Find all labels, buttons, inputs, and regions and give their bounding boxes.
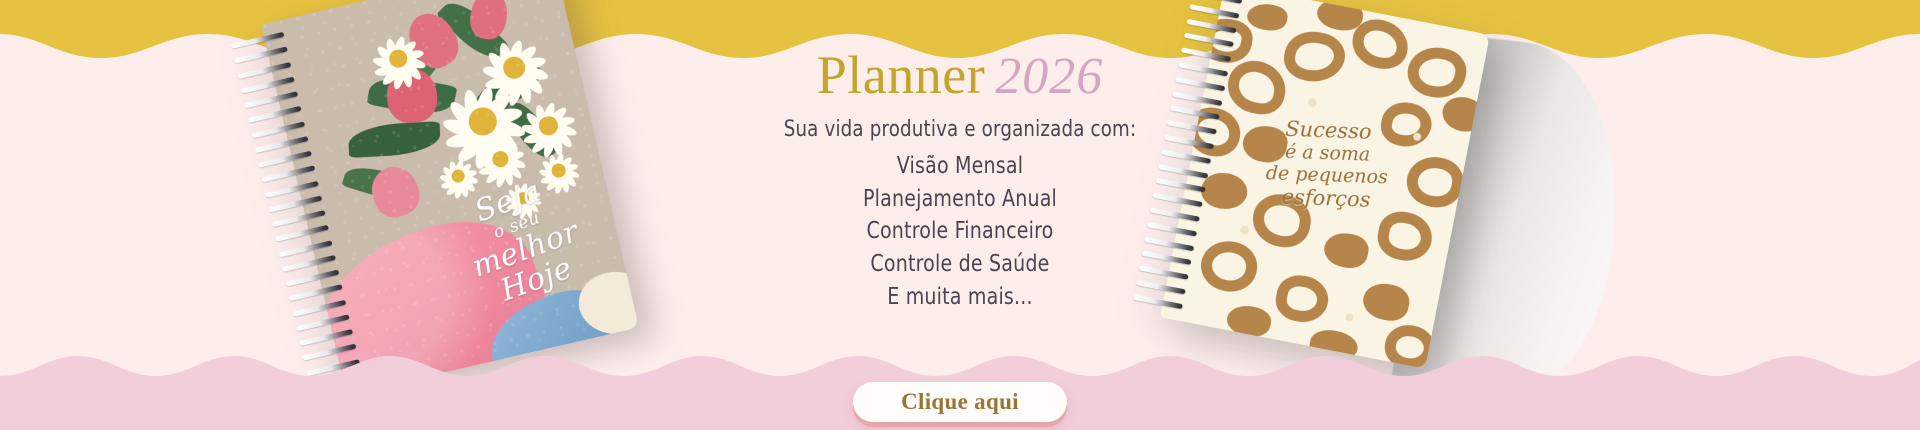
daisy-petal: [484, 126, 506, 167]
daisy-petal: [523, 191, 541, 201]
daisy-petal: [514, 55, 547, 73]
cream-accent: [578, 271, 639, 334]
daisy-petal: [459, 179, 470, 198]
daisy-petal: [478, 163, 502, 176]
leaf-shape: [366, 71, 457, 121]
daisy-petal: [502, 156, 526, 170]
page-title: Planner2026: [660, 48, 1260, 103]
daisy-petal: [550, 122, 578, 139]
daisy-petal: [506, 74, 526, 107]
leaf-shape: [466, 58, 549, 122]
leaf-shape: [394, 18, 460, 92]
daisy-petal: [400, 58, 424, 83]
daisy-petal: [372, 55, 399, 71]
daisy-flower: [427, 66, 537, 176]
daisy-petal: [375, 44, 399, 69]
list-item: Planejamento Anual: [684, 183, 1236, 216]
daisy-petal: [553, 175, 565, 195]
daisy-petal: [398, 48, 425, 62]
daisy-petal: [440, 180, 459, 191]
daisy-petal: [518, 183, 529, 201]
daisy-petal: [541, 102, 558, 130]
daisy-petal: [548, 154, 559, 174]
daisy-petal: [559, 163, 579, 174]
daisy-petal: [514, 184, 524, 202]
daisy-petal: [394, 39, 419, 63]
daisy-petal: [486, 115, 527, 139]
tulip-flower: [400, 5, 467, 76]
daisy-petal: [507, 188, 523, 204]
leopard-spot: [1321, 230, 1371, 272]
blue-knit-accent: [478, 275, 629, 395]
daisy-petal: [502, 162, 515, 186]
daisy-petal: [560, 170, 578, 189]
subtitle: Sua vida produtiva e organizada com:: [684, 117, 1236, 142]
clique-aqui-button[interactable]: Clique aqui: [853, 382, 1067, 422]
floral-planner-quote: Seja o seu melhor Hoje: [418, 156, 627, 326]
daisy-petal: [453, 159, 465, 179]
daisy-petal: [445, 180, 463, 197]
daisy-petal: [455, 161, 473, 178]
daisy-petal: [540, 174, 560, 185]
daisy-petal: [374, 63, 401, 77]
quote-line-3: melhor: [436, 204, 616, 296]
daisy-petal: [560, 167, 580, 179]
daisy-petal: [482, 106, 523, 128]
daisy-petal: [534, 104, 549, 131]
daisy-petal: [511, 202, 527, 218]
tulip-flower: [467, 0, 510, 42]
daisy-petal: [447, 99, 483, 137]
daisy-petal: [485, 50, 514, 80]
tulip-flower: [365, 160, 426, 223]
daisy-flower: [499, 174, 547, 222]
daisy-petal: [502, 158, 523, 180]
daisy-flower: [511, 88, 585, 162]
daisy-petal: [550, 125, 575, 150]
banner-copy: Planner2026 Sua vida produtiva e organiz…: [660, 0, 1260, 430]
daisy-petal: [472, 129, 496, 170]
daisy-petal: [400, 62, 414, 89]
daisy-petal: [380, 64, 405, 88]
daisy-petal: [505, 39, 525, 72]
daisy-petal: [516, 72, 534, 105]
list-item: Controle Financeiro: [684, 215, 1236, 248]
list-item: E muita mais...: [684, 281, 1236, 314]
daisy-petal: [439, 174, 459, 186]
headline-year: 2026: [995, 48, 1103, 105]
daisy-petal: [497, 42, 515, 75]
daisy-petal: [509, 43, 539, 72]
daisy-petal: [541, 131, 558, 159]
daisy-petal: [541, 159, 559, 178]
leaf-shape: [436, 0, 510, 67]
leopard-spot: [1280, 27, 1348, 88]
list-item: Visão Mensal: [684, 150, 1236, 183]
daisy-petal: [516, 67, 545, 97]
daisy-petal: [485, 120, 521, 158]
daisy-petal: [524, 196, 542, 207]
headline-word: Planner: [817, 45, 985, 105]
daisy-petal: [549, 129, 564, 156]
daisy-petal: [518, 202, 529, 220]
leopard-spot: [1404, 42, 1470, 102]
daisy-petal: [495, 164, 509, 188]
daisy-flower: [470, 23, 559, 112]
daisy-petal: [459, 175, 476, 193]
leopard-dot: [1307, 97, 1318, 108]
daisy-petal: [553, 153, 565, 173]
daisy-petal: [453, 180, 465, 200]
daisy-petal: [479, 146, 500, 168]
daisy-petal: [507, 201, 525, 211]
daisy-petal: [484, 73, 517, 91]
daisy-petal: [538, 168, 558, 180]
daisy-petal: [391, 35, 407, 62]
daisy-petal: [385, 37, 399, 64]
daisy-petal: [471, 86, 495, 127]
quote-line-1: Seja: [418, 156, 598, 248]
daisy-petal: [460, 173, 480, 185]
cta-container: Clique aqui: [0, 382, 1920, 422]
daisy-flower: [531, 143, 586, 198]
promo-banner: Seja o seu melhor Hoje: [0, 0, 1920, 430]
daisy-petal: [524, 198, 540, 214]
daisy-petal: [448, 161, 459, 180]
daisy-petal: [521, 122, 549, 139]
leopard-spot: [1360, 280, 1412, 324]
daisy-petal: [441, 165, 458, 183]
daisy-petal: [544, 105, 569, 130]
leaf-shape: [342, 161, 417, 206]
daisy-petal: [523, 130, 550, 145]
daisy-petal: [555, 155, 574, 173]
daisy-petal: [517, 63, 550, 83]
daisy-petal: [548, 115, 575, 130]
daisy-petal: [484, 164, 506, 185]
daisy-petal: [500, 150, 524, 163]
daisy-petal: [524, 200, 534, 218]
daisy-petal: [520, 185, 536, 201]
quote-line-2: o seu: [429, 186, 604, 265]
daisy-petal: [545, 174, 564, 192]
floral-planner[interactable]: Seja o seu melhor Hoje: [261, 0, 639, 395]
daisy-petal: [492, 74, 522, 103]
leopard-spot: [1272, 271, 1332, 326]
daisy-petal: [524, 110, 549, 135]
daisy-petal: [445, 128, 486, 150]
daisy-petal: [400, 55, 427, 71]
feature-list: Visão Mensal Planejamento Anual Controle…: [660, 150, 1260, 313]
leopard-spot: [1307, 326, 1360, 365]
daisy-petal: [559, 173, 570, 193]
tulip-flower: [385, 66, 440, 124]
quote-line-4: Hoje: [447, 234, 627, 326]
daisy-petal: [477, 156, 501, 170]
leopard-dot: [1345, 313, 1354, 322]
leaf-shape: [502, 95, 560, 165]
daisy-petal: [481, 64, 514, 84]
leaf-shape: [348, 121, 442, 158]
daisy-petal: [494, 138, 508, 162]
daisy-petal: [462, 89, 484, 130]
daisy-petal: [392, 64, 408, 91]
daisy-petal: [505, 196, 523, 207]
leopard-planner-quote: Sucesso é a soma de pequenos esforços: [1235, 115, 1420, 214]
daisy-petal: [455, 129, 493, 165]
daisy-petal: [529, 131, 554, 156]
leopard-spot: [1374, 208, 1436, 265]
daisy-petal: [458, 169, 477, 180]
daisy-flower: [432, 150, 485, 203]
daisy-petal: [442, 116, 483, 140]
list-item: Controle de Saúde: [684, 248, 1236, 281]
daisy-flower: [468, 127, 533, 192]
daisy-petal: [476, 91, 514, 127]
daisy-flower: [362, 23, 434, 95]
daisy-petal: [488, 140, 501, 164]
daisy-petal: [497, 141, 519, 162]
